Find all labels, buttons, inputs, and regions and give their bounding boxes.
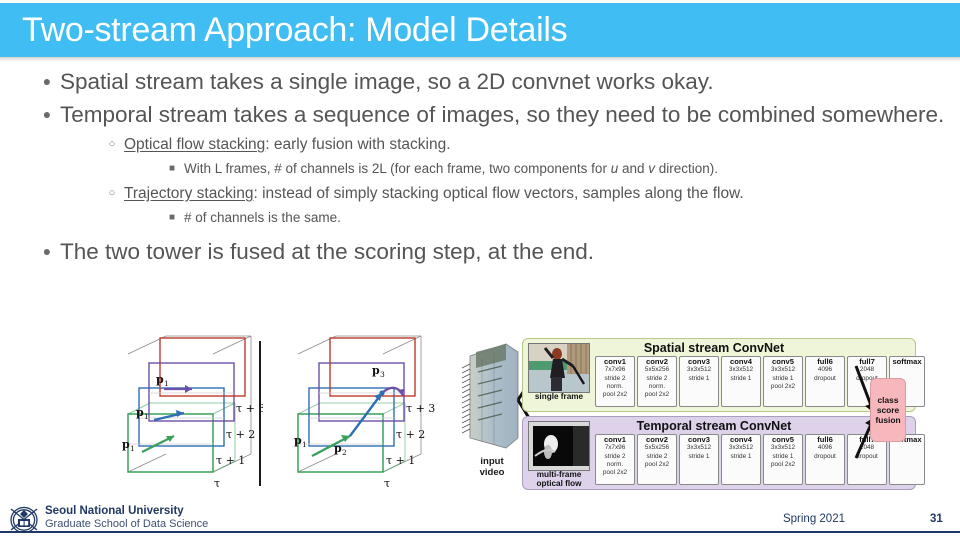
layer-full6: full6 4096 dropout bbox=[805, 434, 845, 485]
layer-param: stride 1 bbox=[689, 375, 710, 383]
layer-param: 3x3x512 bbox=[687, 366, 711, 374]
bullet-rest: : instead of simply stacking optical flo… bbox=[254, 185, 744, 202]
bullet-disc-icon: ● bbox=[34, 99, 60, 130]
layer-name: full6 bbox=[817, 358, 833, 366]
svg-text:1: 1 bbox=[130, 444, 135, 453]
footer-university: Seoul National University bbox=[45, 505, 184, 518]
optical-flow-caption: multi-frame optical flow bbox=[523, 470, 595, 488]
optical-flow-thumbnail bbox=[528, 421, 590, 471]
layer-param: stride 2 bbox=[647, 453, 668, 461]
svg-text:1: 1 bbox=[302, 440, 307, 449]
layer-param: 3x3x512 bbox=[729, 366, 753, 374]
layer-param: 5x5x256 bbox=[645, 444, 669, 452]
footer-divider bbox=[0, 531, 960, 533]
layer-param: stride 1 bbox=[731, 453, 752, 461]
spatial-stream-title: Spatial stream ConvNet bbox=[599, 341, 829, 355]
time-label-tau: τ bbox=[214, 477, 220, 490]
layer-conv4: conv4 3x3x512 stride 1 bbox=[721, 356, 761, 407]
layer-param: norm. bbox=[649, 383, 665, 391]
svg-text:1: 1 bbox=[164, 379, 169, 388]
bullet-post: direction). bbox=[655, 161, 718, 176]
bullet-item: ■ # of channels is the same. bbox=[160, 206, 960, 230]
svg-text:2: 2 bbox=[342, 448, 347, 457]
bullet-text: # of channels is the same. bbox=[184, 206, 960, 230]
footer-department: Graduate School of Data Science bbox=[45, 518, 208, 531]
input-video-label-line1: input bbox=[480, 456, 503, 467]
bullet-item: ● The two tower is fused at the scoring … bbox=[34, 236, 960, 267]
bullet-list: ● Spatial stream takes a single image, s… bbox=[0, 66, 960, 269]
svg-text:1: 1 bbox=[144, 412, 149, 421]
bullet-circle-icon: ○ bbox=[100, 181, 124, 206]
layer-name: conv2 bbox=[646, 358, 668, 366]
layer-param: 5x5x256 bbox=[645, 366, 669, 374]
slide-title-bar: Two-stream Approach: Model Details bbox=[0, 3, 960, 57]
title-bar-shadow bbox=[0, 57, 960, 62]
fusion-line1: class bbox=[878, 395, 899, 405]
svg-text:p: p bbox=[156, 373, 164, 386]
time-label-tau3: τ + 3 bbox=[406, 402, 435, 415]
bullet-term-underlined: Optical flow stacking bbox=[124, 136, 265, 153]
layer-param: pool 2x2 bbox=[771, 461, 795, 469]
layer-conv1: conv1 7x7x96 stride 2 norm. pool 2x2 bbox=[595, 356, 635, 407]
bullet-item: ● Spatial stream takes a single image, s… bbox=[34, 66, 960, 97]
time-label-tau2: τ + 2 bbox=[226, 428, 255, 441]
layer-name: conv3 bbox=[688, 436, 710, 444]
layer-name: conv4 bbox=[730, 358, 752, 366]
layer-name: conv5 bbox=[772, 358, 794, 366]
layer-param: stride 1 bbox=[689, 453, 710, 461]
svg-text:p: p bbox=[122, 438, 130, 451]
time-label-tau: τ bbox=[384, 477, 390, 490]
bullet-circle-icon: ○ bbox=[100, 132, 124, 157]
layer-conv4: conv4 3x3x512 stride 1 bbox=[721, 434, 761, 485]
bullet-text: Spatial stream takes a single image, so … bbox=[60, 66, 960, 97]
layer-param: pool 2x2 bbox=[771, 383, 795, 391]
layer-param: dropout bbox=[814, 375, 836, 383]
layer-param: stride 2 bbox=[605, 375, 626, 383]
bullet-square-icon: ■ bbox=[160, 157, 184, 181]
layer-conv1: conv1 7x7x96 stride 2 norm. pool 2x2 bbox=[595, 434, 635, 485]
layer-name: conv5 bbox=[772, 436, 794, 444]
bullet-item: ○ Optical flow stacking: early fusion wi… bbox=[100, 132, 960, 157]
layer-param: stride 1 bbox=[773, 453, 794, 461]
temporal-stream-title: Temporal stream ConvNet bbox=[599, 419, 829, 433]
time-label-tau2: τ + 2 bbox=[396, 428, 425, 441]
layer-param: pool 2x2 bbox=[603, 469, 627, 477]
single-frame-caption: single frame bbox=[523, 392, 595, 401]
input-video-label: input video bbox=[462, 456, 522, 478]
optical-flow-caption-line1: multi-frame bbox=[537, 470, 582, 479]
bullet-rest: : early fusion with stacking. bbox=[265, 136, 450, 153]
layer-param: pool 2x2 bbox=[645, 391, 669, 399]
svg-text:p: p bbox=[334, 442, 342, 455]
layer-param: pool 2x2 bbox=[645, 461, 669, 469]
layer-name: conv4 bbox=[730, 436, 752, 444]
bullet-pre: With L frames, # of channels is 2L (for … bbox=[184, 161, 611, 176]
optical-flow-stacking-figure: p 1 p 1 p 1 τ + 3 τ + 2 τ + 1 τ bbox=[118, 332, 263, 492]
svg-text:3: 3 bbox=[380, 370, 385, 379]
time-label-tau1: τ + 1 bbox=[386, 454, 415, 467]
input-video-stack-icon bbox=[462, 342, 522, 452]
layer-param: 4096 bbox=[818, 444, 832, 452]
layer-name: softmax bbox=[892, 358, 921, 366]
bullet-item: ● Temporal stream takes a sequence of im… bbox=[34, 99, 960, 130]
layer-name: full6 bbox=[817, 436, 833, 444]
single-frame-thumbnail bbox=[528, 343, 590, 393]
bullet-text: With L frames, # of channels is 2L (for … bbox=[184, 157, 960, 181]
layer-param: 7x7x96 bbox=[605, 366, 626, 374]
layer-param: 3x3x512 bbox=[771, 444, 795, 452]
layer-param: dropout bbox=[814, 453, 836, 461]
layer-conv2: conv2 5x5x256 stride 2 norm. pool 2x2 bbox=[637, 356, 677, 407]
layer-param: 7x7x96 bbox=[605, 444, 626, 452]
slide-root: Two-stream Approach: Model Details ● Spa… bbox=[0, 0, 960, 542]
fusion-line3: fusion bbox=[875, 415, 900, 425]
layer-full6: full6 4096 dropout bbox=[805, 356, 845, 407]
figure-divider bbox=[259, 341, 261, 486]
layer-conv5: conv5 3x3x512 stride 1 pool 2x2 bbox=[763, 434, 803, 485]
layer-param: norm. bbox=[607, 383, 623, 391]
layer-param: 3x3x512 bbox=[771, 366, 795, 374]
layer-param: stride 2 bbox=[605, 453, 626, 461]
optical-flow-caption-line2: optical flow bbox=[536, 479, 581, 488]
layer-param: stride 1 bbox=[773, 375, 794, 383]
layer-name: conv1 bbox=[604, 358, 626, 366]
bullet-mid: and bbox=[618, 161, 648, 176]
svg-text:p: p bbox=[372, 364, 380, 377]
bullet-square-icon: ■ bbox=[160, 206, 184, 230]
slide-title: Two-stream Approach: Model Details bbox=[22, 11, 567, 50]
footer-page-number: 31 bbox=[930, 513, 943, 525]
fusion-line2: score bbox=[877, 405, 899, 415]
layer-param: 4096 bbox=[818, 366, 832, 374]
layer-param: 3x3x512 bbox=[687, 444, 711, 452]
two-stream-architecture-figure: input video Spatial stream ConvNet bbox=[462, 338, 914, 490]
input-video-label-line2: video bbox=[480, 467, 505, 478]
svg-text:p: p bbox=[294, 434, 302, 447]
layer-name: conv2 bbox=[646, 436, 668, 444]
layer-param: stride 2 bbox=[647, 375, 668, 383]
footer-term: Spring 2021 bbox=[783, 513, 845, 525]
layer-conv3: conv3 3x3x512 stride 1 bbox=[679, 356, 719, 407]
layer-conv5: conv5 3x3x512 stride 1 pool 2x2 bbox=[763, 356, 803, 407]
bullet-text: The two tower is fused at the scoring st… bbox=[60, 236, 960, 267]
layer-conv3: conv3 3x3x512 stride 1 bbox=[679, 434, 719, 485]
layer-param: stride 1 bbox=[731, 375, 752, 383]
layer-conv2: conv2 5x5x256 stride 2 pool 2x2 bbox=[637, 434, 677, 485]
bullet-text: Temporal stream takes a sequence of imag… bbox=[60, 99, 960, 130]
bullet-disc-icon: ● bbox=[34, 66, 60, 97]
trajectory-stacking-figure: p 1 p 2 p 3 τ + 3 τ + 2 τ + 1 τ bbox=[288, 332, 448, 492]
layer-name: conv3 bbox=[688, 358, 710, 366]
bullet-disc-icon: ● bbox=[34, 236, 60, 267]
svg-text:p: p bbox=[136, 406, 144, 419]
snu-logo-icon bbox=[7, 503, 41, 535]
layer-param: norm. bbox=[607, 461, 623, 469]
bullet-italic-v: v bbox=[648, 161, 655, 176]
layer-name: conv1 bbox=[604, 436, 626, 444]
bullet-item: ○ Trajectory stacking: instead of simply… bbox=[100, 181, 960, 206]
layer-param: pool 2x2 bbox=[603, 391, 627, 399]
class-score-fusion-box: class score fusion bbox=[870, 378, 906, 442]
layer-param: 3x3x512 bbox=[729, 444, 753, 452]
bullet-text: Optical flow stacking: early fusion with… bbox=[124, 132, 960, 157]
bullet-item: ■ With L frames, # of channels is 2L (fo… bbox=[160, 157, 960, 181]
bullet-term-underlined: Trajectory stacking bbox=[124, 185, 254, 202]
bullet-text: Trajectory stacking: instead of simply s… bbox=[124, 181, 960, 206]
time-label-tau1: τ + 1 bbox=[216, 454, 245, 467]
